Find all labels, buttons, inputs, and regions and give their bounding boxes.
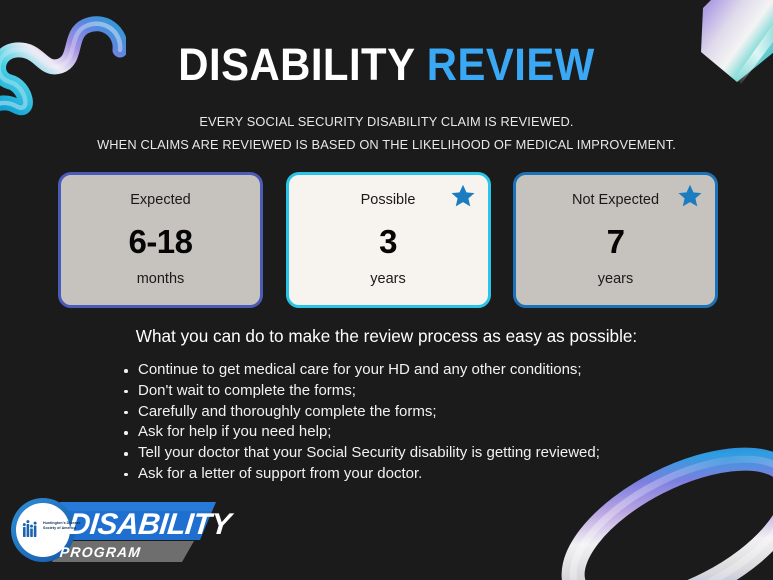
star-icon xyxy=(450,183,476,209)
list-item: Don't wait to complete the forms; xyxy=(122,381,722,402)
hdsa-org-line-2: Society of America xyxy=(43,526,91,531)
advice-list: Continue to get medical care for your HD… xyxy=(122,360,722,485)
hdsa-disability-program-logo: DISABILITY PROGRAM Huntington's Disease … xyxy=(2,494,260,568)
card-expected: Expected 6-18 months xyxy=(58,172,263,308)
card-possible: Possible 3 years xyxy=(286,172,491,308)
subtitle-line-1: EVERY SOCIAL SECURITY DISABILITY CLAIM I… xyxy=(12,110,762,133)
list-item: Ask for help if you need help; xyxy=(122,422,722,443)
subtitle: EVERY SOCIAL SECURITY DISABILITY CLAIM I… xyxy=(12,110,762,156)
card-label: Possible xyxy=(361,193,416,208)
list-item: Tell your doctor that your Social Securi… xyxy=(122,443,722,464)
infographic-canvas: DISABILITY REVIEW EVERY SOCIAL SECURITY … xyxy=(0,0,773,580)
card-unit: years xyxy=(370,272,405,287)
card-value: 7 xyxy=(607,225,625,258)
card-unit: years xyxy=(598,272,633,287)
title-main: DISABILITY xyxy=(178,39,414,90)
svg-text:DISABILITY: DISABILITY xyxy=(67,508,236,541)
card-label: Not Expected xyxy=(572,193,659,208)
hdsa-org-name: Huntington's Disease Society of America xyxy=(43,521,91,530)
timeline-cards: Expected 6-18 months Possible 3 years No… xyxy=(58,172,718,308)
svg-text:PROGRAM: PROGRAM xyxy=(59,544,142,560)
card-value: 6-18 xyxy=(128,225,192,258)
title-accent: REVIEW xyxy=(427,39,595,90)
card-not-expected: Not Expected 7 years xyxy=(513,172,718,308)
star-icon xyxy=(677,183,703,209)
page-title: DISABILITY REVIEW xyxy=(27,42,746,87)
list-item: Carefully and thoroughly complete the fo… xyxy=(122,402,722,423)
advice-heading: What you can do to make the review proce… xyxy=(8,328,766,346)
card-label: Expected xyxy=(130,193,190,208)
card-unit: months xyxy=(137,272,185,287)
list-item: Ask for a letter of support from your do… xyxy=(122,464,722,485)
list-item: Continue to get medical care for your HD… xyxy=(122,360,722,381)
card-value: 3 xyxy=(379,225,397,258)
subtitle-line-2: WHEN CLAIMS ARE REVIEWED IS BASED ON THE… xyxy=(12,133,762,156)
